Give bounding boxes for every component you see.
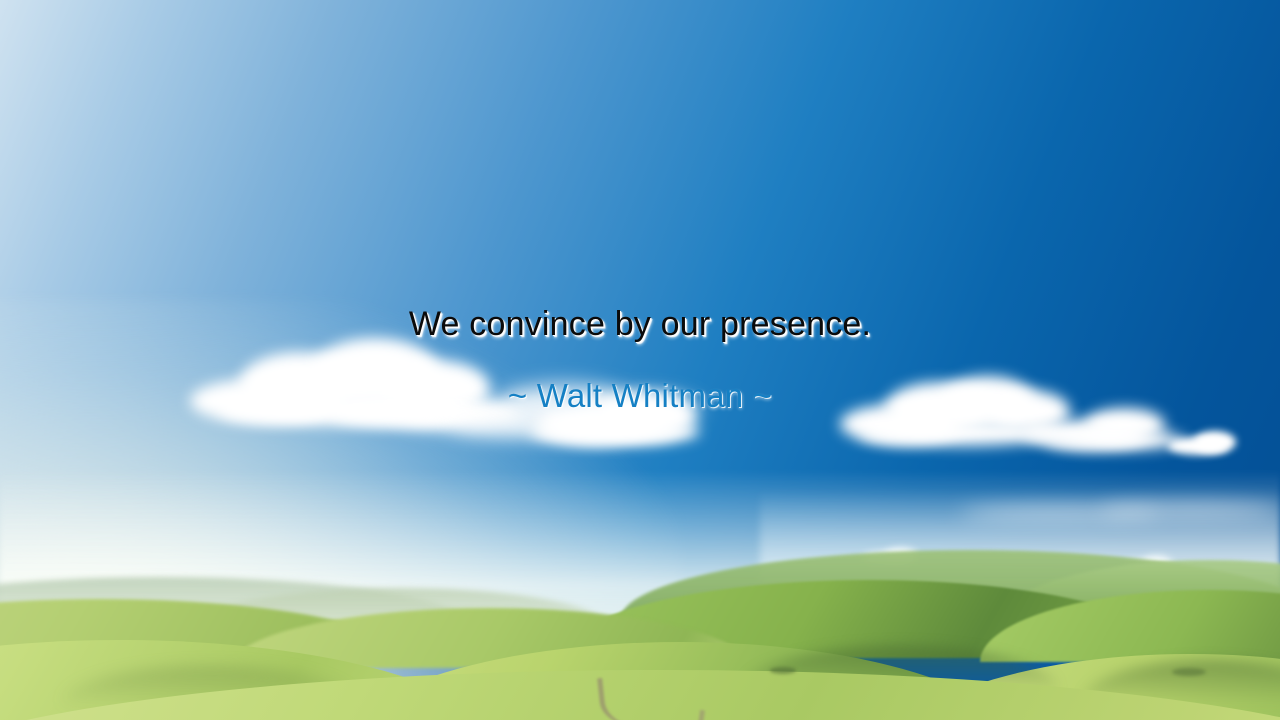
quote-text: We convince by our presence.: [0, 305, 1280, 344]
vegetation-speck-right: [1172, 668, 1206, 676]
desktop-wallpaper-screen: We convince by our presence. ~ Walt Whit…: [0, 0, 1280, 720]
vegetation-speck-left: [770, 667, 796, 674]
green-hills: [0, 540, 1280, 720]
quote-author: ~ Walt Whitman ~: [0, 377, 1280, 415]
